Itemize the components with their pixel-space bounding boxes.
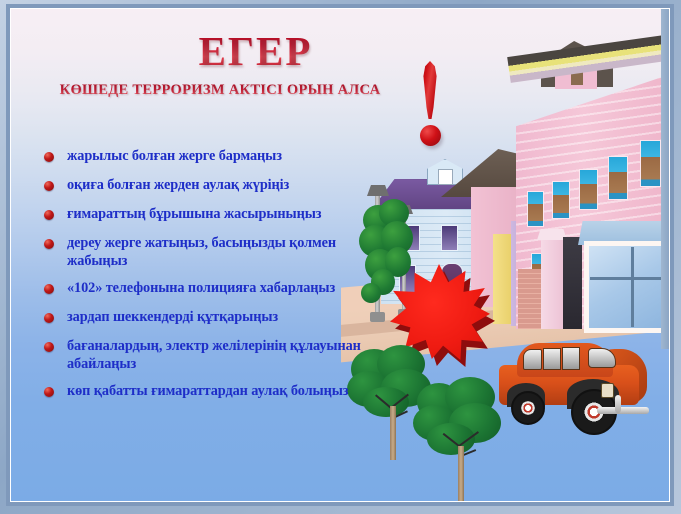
poster: ЕГЕР КӨШЕДЕ ТЕРРОРИЗМ АКТІСІ ОРЫН АЛСА ж… xyxy=(0,0,681,514)
poster-frame-inner-line xyxy=(10,8,670,502)
